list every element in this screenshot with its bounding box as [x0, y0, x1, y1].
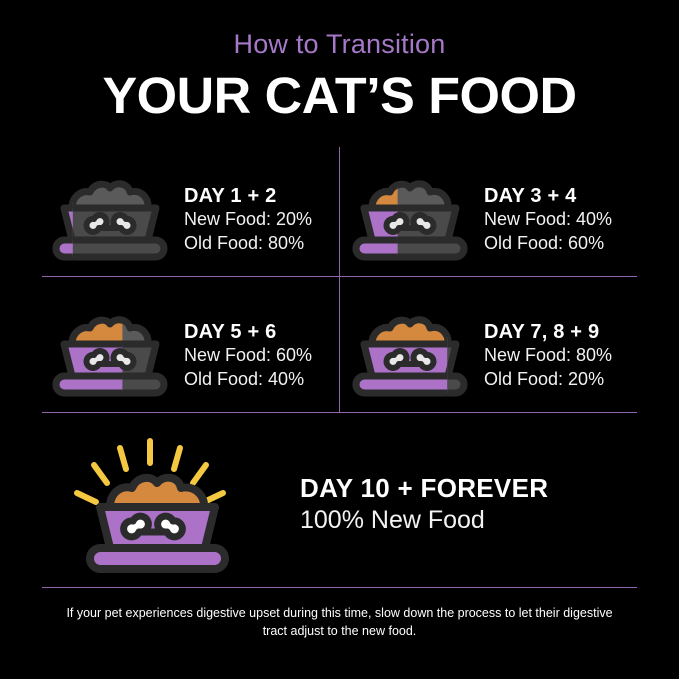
step-day-label: DAY 7, 8 + 9	[484, 321, 639, 344]
bowl-svg-40	[348, 174, 472, 266]
pet-food-bowl-icon	[344, 310, 476, 402]
page-title: YOUR CAT’S FOOD	[0, 70, 679, 121]
bowl-svg-60	[48, 310, 172, 402]
pet-food-bowl-icon-large	[0, 435, 300, 575]
step-old-food: Old Food: 60%	[484, 232, 639, 255]
footer-note: If your pet experiences digestive upset …	[66, 604, 613, 640]
step-day-label: DAY 3 + 4	[484, 185, 639, 208]
step-card-day-5-6: DAY 5 + 6 New Food: 60% Old Food: 40%	[44, 300, 339, 412]
step-text: DAY 5 + 6 New Food: 60% Old Food: 40%	[176, 321, 339, 390]
forever-day-label: DAY 10 + FOREVER	[300, 473, 679, 504]
pet-food-bowl-icon	[44, 174, 176, 266]
step-day-label: DAY 1 + 2	[184, 185, 339, 208]
forever-subtitle: 100% New Food	[300, 504, 679, 537]
transition-steps-grid: DAY 1 + 2 New Food: 20% Old Food: 80%	[0, 160, 679, 412]
divider-footer	[42, 587, 637, 588]
step-text: DAY 7, 8 + 9 New Food: 80% Old Food: 20%	[476, 321, 639, 390]
pet-food-bowl-icon	[344, 174, 476, 266]
step-day-label: DAY 5 + 6	[184, 321, 339, 344]
step-new-food: New Food: 20%	[184, 208, 339, 231]
pet-food-bowl-icon	[44, 310, 176, 402]
step-new-food: New Food: 60%	[184, 344, 339, 367]
step-card-day-1-2: DAY 1 + 2 New Food: 20% Old Food: 80%	[44, 164, 339, 276]
step-card-day-3-4: DAY 3 + 4 New Food: 40% Old Food: 60%	[344, 164, 639, 276]
step-card-day-10-forever: DAY 10 + FOREVER 100% New Food	[0, 430, 679, 580]
forever-text: DAY 10 + FOREVER 100% New Food	[300, 473, 679, 537]
bowl-svg-80	[348, 310, 472, 402]
infographic-page: How to Transition YOUR CAT’S FOOD	[0, 0, 679, 679]
step-new-food: New Food: 80%	[484, 344, 639, 367]
header: How to Transition YOUR CAT’S FOOD	[0, 31, 679, 121]
step-old-food: Old Food: 20%	[484, 368, 639, 391]
step-old-food: Old Food: 80%	[184, 232, 339, 255]
eyebrow-text: How to Transition	[0, 31, 679, 58]
step-text: DAY 3 + 4 New Food: 40% Old Food: 60%	[476, 185, 639, 254]
step-old-food: Old Food: 40%	[184, 368, 339, 391]
step-new-food: New Food: 40%	[484, 208, 639, 231]
bowl-svg-100-with-rays	[65, 435, 235, 575]
bowl-svg-20	[48, 174, 172, 266]
step-text: DAY 1 + 2 New Food: 20% Old Food: 80%	[176, 185, 339, 254]
step-card-day-7-8-9: DAY 7, 8 + 9 New Food: 80% Old Food: 20%	[344, 300, 639, 412]
